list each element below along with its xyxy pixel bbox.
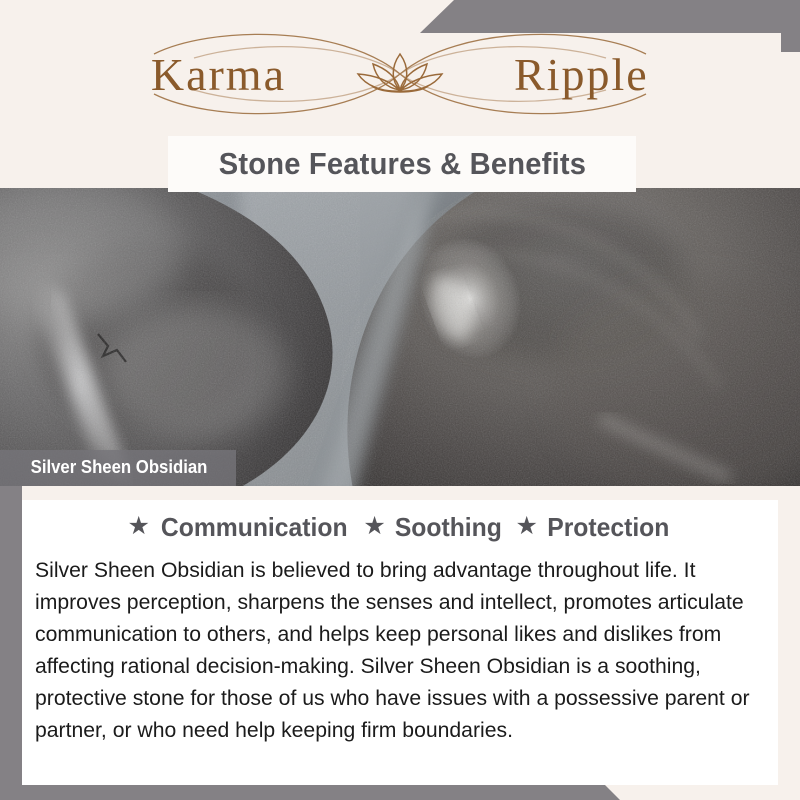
brand-name-left: Karma — [151, 49, 286, 100]
stone-photo-image — [0, 188, 800, 486]
benefit-item-soothing: ★ Soothing — [363, 512, 504, 543]
benefit-item-communication: ★ Communication — [128, 512, 353, 543]
benefits-row: ★ Communication ★ Soothing ★ Protection — [22, 512, 778, 543]
star-icon: ★ — [363, 514, 385, 539]
logo-svg: Karma Ripple — [90, 28, 710, 120]
benefit-item-protection: ★ Protection — [515, 512, 672, 543]
page-title: Stone Features & Benefits — [218, 146, 585, 182]
star-icon: ★ — [515, 514, 537, 539]
photo-caption-label: Silver Sheen Obsidian — [31, 457, 208, 478]
panel-top-tint — [22, 486, 778, 500]
content-panel: ★ Communication ★ Soothing ★ Protection … — [22, 486, 778, 785]
star-icon: ★ — [128, 514, 150, 539]
brand-name-right: Ripple — [514, 49, 649, 100]
description-paragraph: Silver Sheen Obsidian is believed to bri… — [35, 554, 764, 746]
brand-logo: Karma Ripple — [0, 28, 800, 120]
benefit-label-communication: Communication — [161, 512, 348, 543]
stone-info-card: Karma Ripple Stone Features & Benefits — [0, 0, 800, 800]
photo-caption: Silver Sheen Obsidian — [0, 450, 236, 486]
benefit-label-protection: Protection — [547, 512, 669, 543]
stone-photo: Silver Sheen Obsidian — [0, 188, 800, 486]
title-banner: Stone Features & Benefits — [168, 136, 636, 192]
benefit-label-soothing: Soothing — [395, 512, 502, 543]
decor-band-left — [0, 480, 22, 766]
